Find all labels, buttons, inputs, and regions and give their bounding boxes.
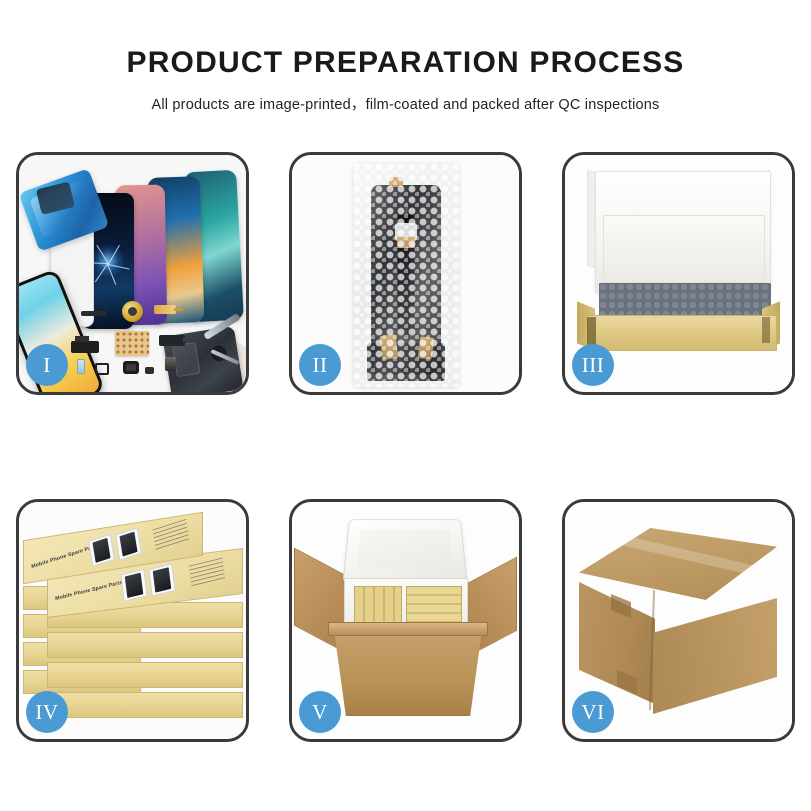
page-header: PRODUCT PREPARATION PROCESS All products…	[0, 0, 811, 114]
foam-box-lid	[342, 519, 467, 582]
box-corner-shadow-left	[587, 317, 596, 345]
coil-part-icon	[122, 301, 143, 322]
sim-tray-part	[77, 359, 85, 374]
process-step-grid: I II	[16, 152, 795, 742]
step-badge-3: III	[572, 344, 614, 386]
box-lid-product-photo	[120, 569, 147, 602]
flex-strip-part	[81, 311, 107, 316]
box-lid-label: Mobile Phone Spare Parts	[55, 580, 123, 602]
flex-cable-black-part	[71, 341, 99, 353]
process-step-panel-1[interactable]: I	[16, 152, 249, 395]
plastic-sheen-overlay	[353, 163, 459, 387]
step-badge-5: V	[299, 691, 341, 733]
camera-module-part	[165, 357, 176, 371]
stacked-box-edge	[47, 692, 243, 718]
process-step-panel-5[interactable]: V	[289, 499, 522, 742]
step-badge-6: VI	[572, 691, 614, 733]
speaker-part	[123, 361, 139, 374]
process-step-panel-6[interactable]: VI	[562, 499, 795, 742]
step-badge-1: I	[26, 344, 68, 386]
screw-grid-part	[115, 331, 149, 356]
page-title: PRODUCT PREPARATION PROCESS	[0, 46, 811, 81]
box-lid-product-photo	[115, 527, 142, 560]
box-lid-spec-lines	[189, 557, 225, 587]
flex-connector-part	[159, 335, 185, 346]
box-lid-product-photo	[148, 563, 175, 596]
box-lid-product-photo	[88, 534, 115, 567]
box-corner-shadow-right	[762, 317, 770, 343]
step-badge-2: II	[299, 344, 341, 386]
box-lid-spec-lines	[152, 519, 189, 551]
button-part	[145, 367, 154, 374]
connector-bracket-part	[95, 363, 109, 375]
step-badge-4: IV	[26, 691, 68, 733]
crack-lines-icon	[108, 264, 109, 265]
page-subtitle: All products are image-printed，film-coat…	[0, 93, 811, 114]
box-front-yellow	[587, 315, 777, 351]
process-step-panel-3[interactable]: III	[562, 152, 795, 395]
carton-body	[334, 630, 482, 716]
product-preparation-page: PRODUCT PREPARATION PROCESS All products…	[0, 0, 811, 811]
process-step-panel-4[interactable]: Mobile Phone Spare Parts Mobile Phone Sp…	[16, 499, 249, 742]
flex-cable-gold-part	[154, 305, 176, 314]
process-step-panel-2[interactable]: II	[289, 152, 522, 395]
stacked-box-edge	[47, 662, 243, 688]
foam-sheet	[603, 215, 765, 283]
carton-rim	[328, 622, 488, 636]
bubble-wrapped-package	[353, 163, 459, 387]
stacked-box-edge	[47, 632, 243, 658]
